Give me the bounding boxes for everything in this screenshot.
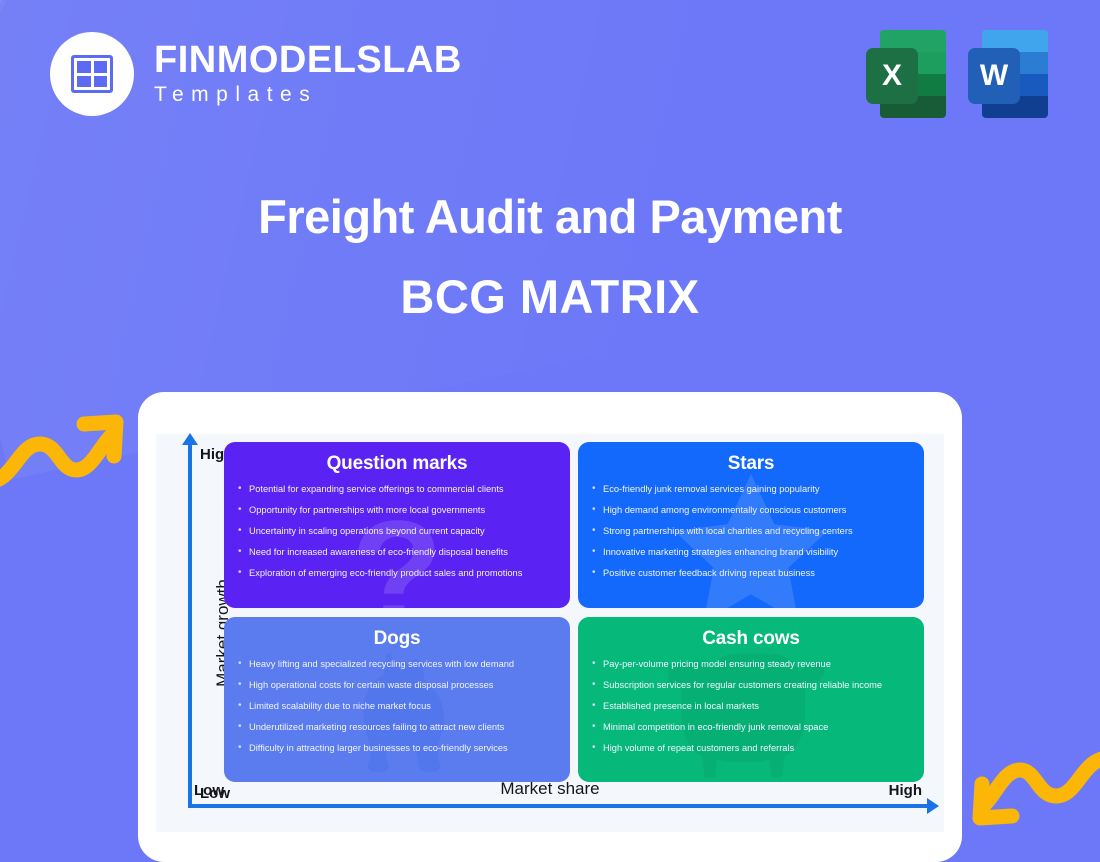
header: FINMODELSLAB Templates X W — [0, 0, 1100, 150]
list-item: Pay-per-volume pricing model ensuring st… — [590, 659, 912, 671]
page-title: Freight Audit and Payment BCG MATRIX — [0, 190, 1100, 324]
list-item: High demand among environmentally consci… — [590, 505, 912, 517]
list-item: High volume of repeat customers and refe… — [590, 743, 912, 755]
list-item: Underutilized marketing resources failin… — [236, 722, 558, 734]
y-axis-arrow — [188, 444, 192, 808]
list-item: Subscription services for regular custom… — [590, 680, 912, 692]
quadrant-dogs[interactable]: Dogs Heavy lifting and specialized recyc… — [224, 617, 570, 783]
office-icons: X W — [866, 30, 1048, 118]
quadrant-stars[interactable]: Stars Eco-friendly junk removal services… — [578, 442, 924, 608]
quadrant-title-question-marks: Question marks — [236, 453, 558, 475]
excel-icon: X — [866, 30, 946, 118]
list-item: Minimal competition in eco-friendly junk… — [590, 722, 912, 734]
quadrant-cash-cows[interactable]: Cash cows Pay-per-volume pricing model e… — [578, 617, 924, 783]
squiggle-arrow-up-right — [0, 408, 132, 494]
x-axis-arrow — [188, 804, 928, 808]
quadrant-title-cash-cows: Cash cows — [590, 628, 912, 650]
list-item: Uncertainty in scaling operations beyond… — [236, 526, 558, 538]
list-item: Strong partnerships with local charities… — [590, 526, 912, 538]
quadrant-list-stars: Eco-friendly junk removal services gaini… — [590, 484, 912, 580]
list-item: Potential for expanding service offering… — [236, 484, 558, 496]
list-item: Difficulty in attracting larger business… — [236, 743, 558, 755]
list-item: Opportunity for partnerships with more l… — [236, 505, 558, 517]
word-icon-letter: W — [968, 48, 1020, 104]
x-axis-label: Market share — [156, 779, 944, 799]
list-item: Limited scalability due to niche market … — [236, 701, 558, 713]
quadrant-list-cash-cows: Pay-per-volume pricing model ensuring st… — [590, 659, 912, 755]
brand-logo: FINMODELSLAB Templates — [50, 32, 462, 116]
brand-subtitle: Templates — [154, 83, 462, 107]
matrix-grid: ? Question marks Potential for expanding… — [224, 442, 924, 782]
brand-name: FINMODELSLAB — [154, 41, 462, 81]
word-icon: W — [968, 30, 1048, 118]
quadrant-title-stars: Stars — [590, 453, 912, 475]
list-item: High operational costs for certain waste… — [236, 680, 558, 692]
quadrant-list-dogs: Heavy lifting and specialized recycling … — [236, 659, 558, 755]
title-line-2: BCG MATRIX — [0, 269, 1100, 324]
grid-squares-icon — [71, 55, 113, 93]
quadrant-list-question-marks: Potential for expanding service offering… — [236, 484, 558, 580]
title-line-1: Freight Audit and Payment — [0, 190, 1100, 244]
matrix-inner-panel: High Low Market growth Low Market share … — [156, 434, 944, 832]
logo-circle — [50, 32, 134, 116]
list-item: Need for increased awareness of eco-frie… — [236, 547, 558, 559]
list-item: Positive customer feedback driving repea… — [590, 568, 912, 580]
list-item: Established presence in local markets — [590, 701, 912, 713]
excel-icon-letter: X — [866, 48, 918, 104]
quadrant-title-dogs: Dogs — [236, 628, 558, 650]
quadrant-question-marks[interactable]: ? Question marks Potential for expanding… — [224, 442, 570, 608]
list-item: Exploration of emerging eco-friendly pro… — [236, 568, 558, 580]
list-item: Heavy lifting and specialized recycling … — [236, 659, 558, 671]
squiggle-arrow-down-left — [964, 736, 1100, 828]
bcg-matrix-card: High Low Market growth Low Market share … — [138, 392, 962, 862]
x-axis-high-label: High — [889, 782, 922, 799]
list-item: Innovative marketing strategies enhancin… — [590, 547, 912, 559]
list-item: Eco-friendly junk removal services gaini… — [590, 484, 912, 496]
